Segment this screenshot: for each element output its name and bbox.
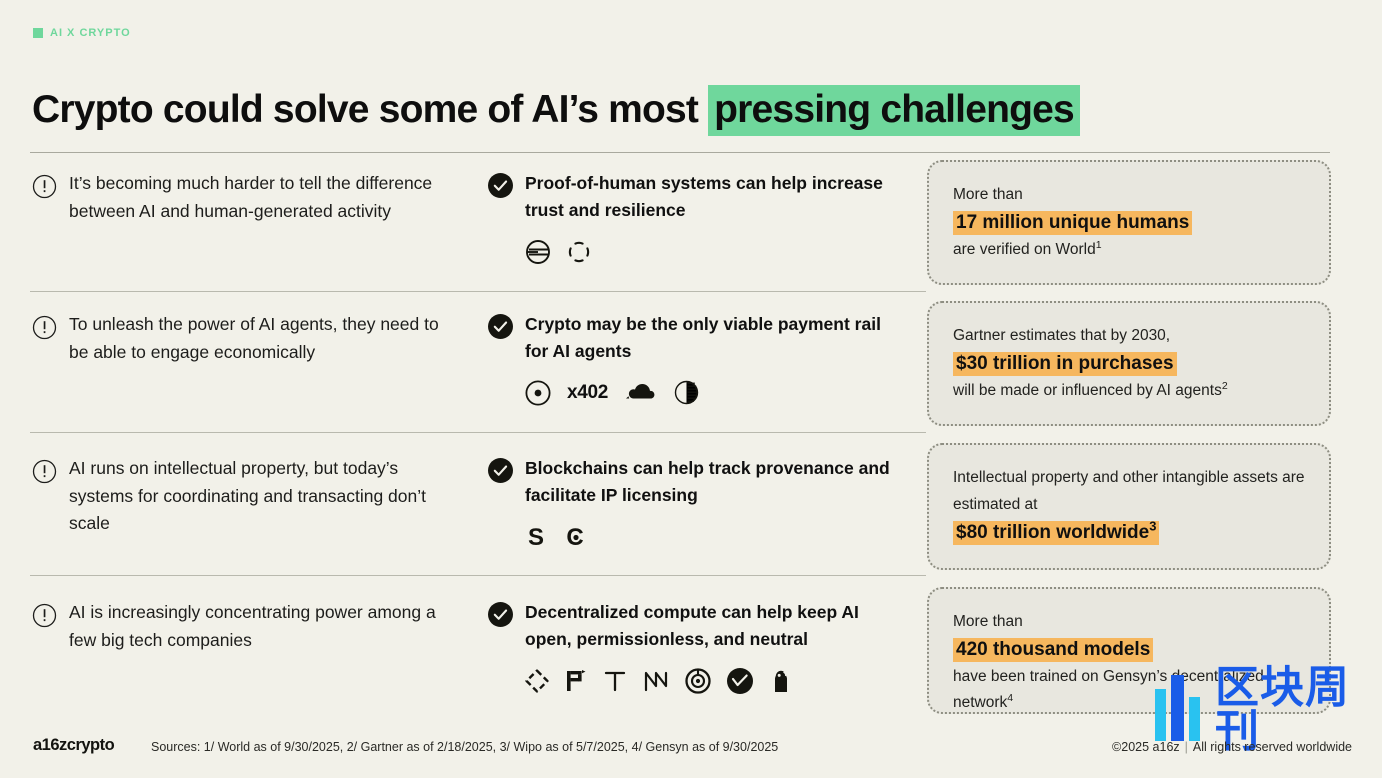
copyright-right: All rights reserved worldwide (1193, 740, 1352, 754)
worldcoin-logo-icon (525, 239, 551, 265)
stat-post: will be made or influenced by AI agents (953, 382, 1222, 399)
stat-highlight: 17 million unique humans (953, 211, 1192, 235)
divider-top (30, 152, 1330, 153)
slide-root: AI X CRYPTO Crypto could solve some of A… (0, 0, 1382, 778)
solution-cell: Crypto may be the only viable payment ra… (488, 311, 908, 408)
partner-logo-row: x402 (525, 378, 908, 408)
nous-research-logo-icon (643, 669, 669, 693)
x402-wordmark: x402 (567, 382, 608, 404)
coinbase-dot-logo-icon (525, 380, 551, 406)
together-ai-logo-icon (603, 669, 627, 693)
stat-card: Gartner estimates that by 2030, $30 tril… (927, 301, 1331, 426)
stat-card: More than 17 million unique humans are v… (927, 160, 1331, 285)
camp-network-logo-icon: C (563, 524, 587, 550)
a16zcrypto-logo: a16zcrypto (33, 736, 114, 755)
problem-cell: AI is increasingly concentrating power a… (32, 599, 452, 654)
stat-highlight: $30 trillion in purchases (953, 352, 1177, 376)
check-circle-icon (488, 314, 513, 339)
alert-circle-icon (32, 459, 57, 484)
stat-post-line: have been trained on Gensyn’s decentrali… (953, 664, 1305, 718)
stat-footnote: 1 (1096, 238, 1102, 250)
problem-cell: AI runs on intellectual property, but to… (32, 455, 452, 538)
solution-cell: Blockchains can help track provenance an… (488, 455, 908, 552)
story-protocol-logo-icon: S (525, 524, 547, 550)
stat-post: are verified on World (953, 241, 1096, 258)
stat-card: More than 420 thousand models have been … (927, 587, 1331, 714)
copyright-left: ©2025 a16z (1112, 740, 1180, 754)
solution-text: Blockchains can help track provenance an… (525, 455, 908, 510)
stat-footnote: 3 (1149, 519, 1156, 534)
skyfire-logo-icon (674, 380, 699, 405)
stat-highlight-text: $80 trillion worldwide (956, 522, 1149, 543)
stat-card: Intellectual property and other intangib… (927, 443, 1331, 570)
stat-pre: More than (953, 609, 1305, 636)
partner-logo-row: S C (525, 522, 908, 552)
problem-cell: It’s becoming much harder to tell the di… (32, 170, 452, 225)
svg-text:S: S (528, 524, 544, 550)
sources-text: Sources: 1/ World as of 9/30/2025, 2/ Ga… (151, 740, 778, 754)
divider-row-2 (30, 432, 926, 433)
humanity-protocol-logo-icon (567, 240, 591, 264)
stat-footnote: 2 (1222, 379, 1228, 391)
eyebrow-label: AI X CRYPTO (50, 27, 131, 39)
solution-text: Proof-of-human systems can help increase… (525, 170, 908, 225)
cloudflare-logo-icon (624, 382, 658, 404)
stat-post: have been trained on Gensyn’s decentrali… (953, 668, 1264, 712)
check-circle-icon (488, 173, 513, 198)
solution-text: Crypto may be the only viable payment ra… (525, 311, 908, 366)
problem-text: It’s becoming much harder to tell the di… (69, 170, 452, 225)
check-circle-icon (488, 602, 513, 627)
stat-highlight-line: $30 trillion in purchases (953, 350, 1305, 378)
gensyn-logo-icon (525, 669, 549, 693)
eyebrow: AI X CRYPTO (33, 27, 131, 39)
problem-text: AI is increasingly concentrating power a… (69, 599, 452, 654)
stat-footnote: 4 (1007, 692, 1013, 704)
problem-cell: To unleash the power of AI agents, they … (32, 311, 452, 366)
prime-intellect-logo-icon (565, 669, 587, 693)
partner-logo-row (525, 237, 908, 267)
ritual-logo-icon (727, 668, 753, 694)
copyright-separator: | (1180, 740, 1193, 754)
footer: a16zcrypto Sources: 1/ World as of 9/30/… (0, 735, 1382, 765)
stat-pre: Gartner estimates that by 2030, (953, 323, 1305, 350)
stat-highlight-line: $80 trillion worldwide3 (953, 519, 1305, 547)
solution-text: Decentralized compute can help keep AI o… (525, 599, 908, 654)
stat-highlight: 420 thousand models (953, 638, 1153, 662)
stat-pre: More than (953, 182, 1305, 209)
stat-post-line: will be made or influenced by AI agents2 (953, 378, 1305, 405)
page-title: Crypto could solve some of AI’s most pre… (32, 88, 1080, 132)
solution-cell: Proof-of-human systems can help increase… (488, 170, 908, 267)
partner-logo-row (525, 666, 908, 696)
pluralis-logo-icon (769, 668, 793, 694)
alert-circle-icon (32, 603, 57, 628)
stat-highlight-line: 420 thousand models (953, 636, 1305, 664)
copyright-text: ©2025 a16z|All rights reserved worldwide (1112, 740, 1352, 754)
alert-circle-icon (32, 174, 57, 199)
stat-highlight-line: 17 million unique humans (953, 209, 1305, 237)
solution-cell: Decentralized compute can help keep AI o… (488, 599, 908, 696)
divider-row-3 (30, 575, 926, 576)
problem-text: AI runs on intellectual property, but to… (69, 455, 452, 538)
alert-circle-icon (32, 315, 57, 340)
bittensor-logo-icon (685, 668, 711, 694)
check-circle-icon (488, 458, 513, 483)
title-lead: Crypto could solve some of AI’s most (32, 88, 708, 131)
title-highlight: pressing challenges (708, 85, 1080, 136)
stat-post-line: are verified on World1 (953, 237, 1305, 264)
eyebrow-square-icon (33, 28, 43, 38)
divider-row-1 (30, 291, 926, 292)
stat-pre: Intellectual property and other intangib… (953, 465, 1305, 519)
problem-text: To unleash the power of AI agents, they … (69, 311, 452, 366)
stat-highlight: $80 trillion worldwide3 (953, 521, 1159, 545)
